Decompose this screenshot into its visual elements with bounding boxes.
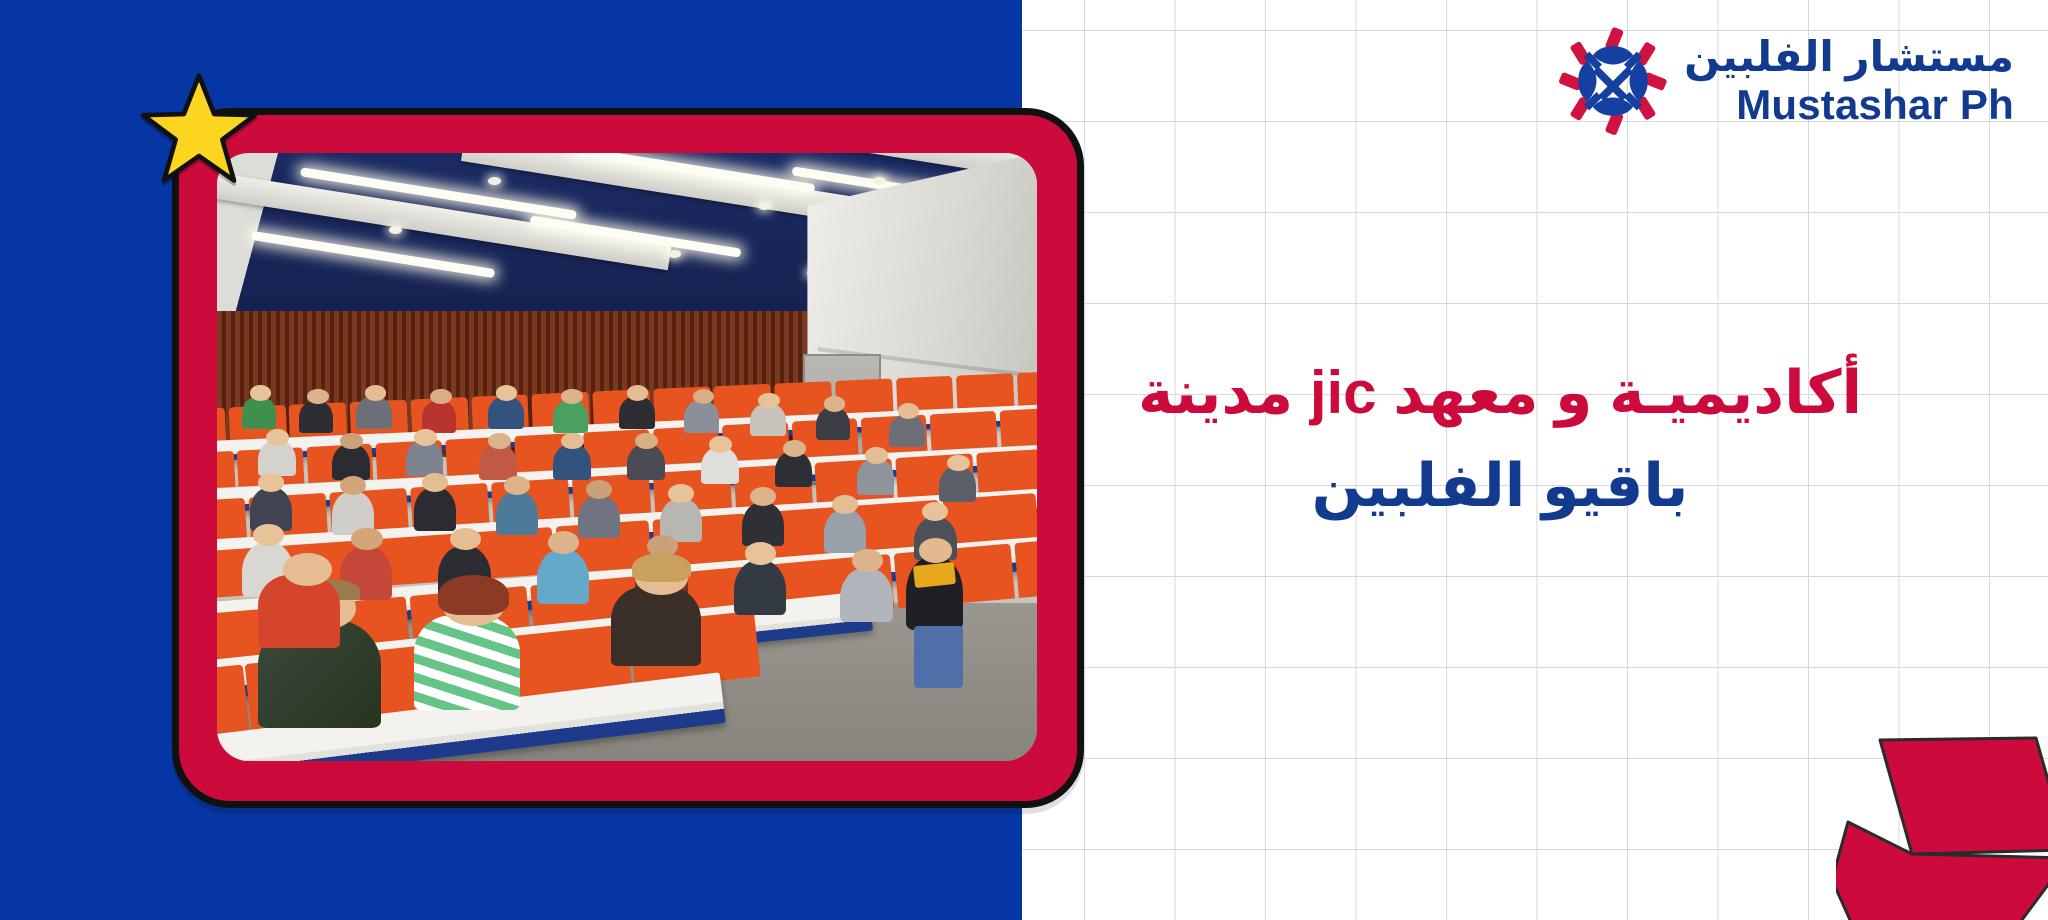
mid-student-head [283, 553, 332, 586]
walking-student-jeans [914, 626, 963, 688]
banner-canvas: مستشار الفلبين Mustashar Ph أكاديميـة و … [0, 0, 2048, 920]
student-head [414, 429, 437, 446]
student-head [450, 528, 481, 551]
mid-student-hair [632, 553, 691, 582]
student-figure [734, 560, 786, 615]
headline-line-1: أكاديميـة و معهد jic مدينة [1040, 355, 1960, 430]
walking-student-head [919, 538, 952, 562]
headline-line-2: باقيو الفلبين [1040, 448, 1960, 523]
student-figure [824, 509, 867, 553]
brand-logo-text: مستشار الفلبين Mustashar Ph [1684, 36, 2014, 126]
student-head [351, 528, 382, 551]
student-figure [840, 568, 892, 623]
student-figure [299, 400, 333, 433]
student-figure [356, 396, 392, 429]
student-figure [479, 444, 517, 480]
folded-chevron-ribbon-decoration [1836, 730, 2048, 920]
student-head [832, 495, 858, 514]
student-head [745, 542, 776, 565]
student-head [824, 396, 845, 411]
student-figure [553, 444, 591, 480]
student-head [430, 389, 451, 404]
lecture-hall-illustration [217, 153, 1037, 761]
student-head [250, 385, 271, 400]
student-figure [537, 549, 589, 604]
student-head [852, 549, 883, 572]
lecture-hall-photo [217, 153, 1037, 761]
yellow-star-badge [140, 72, 258, 184]
student-head [783, 440, 806, 457]
headline-block: أكاديميـة و معهد jic مدينة باقيو الفلبين [1040, 355, 1960, 523]
student-figure [414, 487, 457, 531]
photo-card-frame [172, 108, 1084, 808]
student-head [668, 484, 694, 503]
student-head [266, 429, 289, 446]
student-head [758, 393, 779, 408]
brand-logo[interactable]: مستشار الفلبين Mustashar Ph [1558, 26, 2014, 136]
student-head [307, 389, 328, 404]
seating-rows [217, 396, 1037, 761]
student-head [627, 385, 648, 400]
student-head [561, 389, 582, 404]
student-head [898, 403, 919, 418]
student-figure [488, 396, 524, 429]
student-head [496, 385, 517, 400]
student-figure [750, 403, 786, 436]
mustashar-geometric-star-logo-icon [1558, 26, 1668, 136]
student-head [709, 436, 732, 453]
student-figure [684, 400, 718, 433]
student-figure [742, 502, 785, 546]
student-figure [627, 444, 665, 480]
student-figure [332, 444, 370, 480]
student-figure [816, 407, 850, 440]
mid-student-figure [258, 575, 340, 648]
student-head [947, 455, 970, 472]
brand-name-arabic: مستشار الفلبين [1684, 36, 2014, 78]
student-head [548, 531, 579, 554]
student-head [365, 385, 386, 400]
ceiling-downlight [758, 202, 771, 210]
student-figure [242, 396, 276, 429]
student-head [693, 389, 714, 404]
student-figure [422, 400, 456, 433]
student-head [488, 433, 511, 450]
student-head [422, 473, 448, 492]
student-figure [578, 495, 621, 539]
front-student-hair [438, 575, 509, 615]
student-figure [496, 491, 539, 535]
student-figure [553, 400, 587, 433]
student-head [865, 447, 888, 464]
mid-student-figure [611, 586, 701, 666]
yellow-scarf [913, 562, 956, 588]
brand-name-latin: Mustashar Ph [1736, 84, 2014, 126]
front-student-figure [414, 615, 521, 710]
student-head [258, 473, 284, 492]
student-figure [889, 414, 925, 447]
student-figure [619, 396, 655, 429]
